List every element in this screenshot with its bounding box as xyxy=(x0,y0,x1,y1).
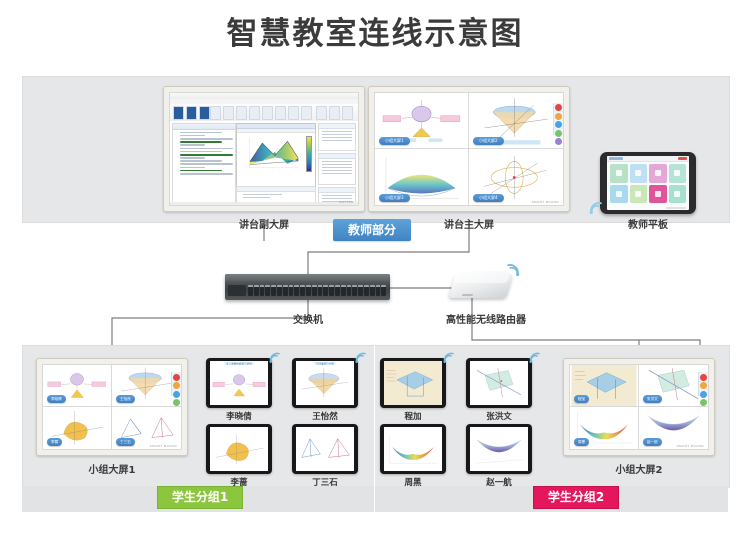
wifi-icon xyxy=(528,350,541,368)
blob-surface-diagram xyxy=(210,427,268,471)
plane-vector-diagram xyxy=(470,361,528,405)
group-screen-quadrant[interactable]: 周黑 xyxy=(570,407,639,449)
student-tablet[interactable] xyxy=(206,424,272,474)
lectern-secondary-screen-label: 讲台副大屏 xyxy=(194,216,334,231)
quadrant-student-name: 周黑 xyxy=(574,438,589,446)
wireless-router-label: 高性能无线路由器 xyxy=(423,311,549,326)
group-screen-quadrant[interactable]: 程加 xyxy=(570,365,639,407)
quadrant-tag: 小组大屏3 xyxy=(379,194,410,202)
plane-intersection-diagram xyxy=(384,361,442,405)
lectern-main-screen-label: 讲台主大屏 xyxy=(399,216,539,231)
switch-ports xyxy=(248,285,386,296)
main-screen-quadrant[interactable]: 空间曲面与方程 xyxy=(469,93,563,149)
matlab-figure-window[interactable] xyxy=(236,123,316,187)
matlab-command-window[interactable] xyxy=(236,186,316,203)
paraboloid-surface-plot xyxy=(470,427,528,471)
student-tablet[interactable]: 多元函数的极值与最值 xyxy=(206,358,272,408)
group-screen-quadrant[interactable]: 空间曲面与方程 王怡然 xyxy=(112,365,181,407)
screen-control-palette[interactable] xyxy=(171,372,181,396)
group-screen-quadrant[interactable]: 多元函数的极值与最值 李晓倩 xyxy=(43,365,112,407)
cone-surface-diagram xyxy=(296,361,354,405)
lectern-main-screen[interactable]: 多元函数极值与最值 xyxy=(368,86,570,212)
student-tablet[interactable]: 空间曲面与方程 xyxy=(292,358,358,408)
group-1-big-screen-label: 小组大屏1 xyxy=(52,461,172,476)
group-1-badge: 学生分组1 xyxy=(157,486,243,509)
student-name-label: 程加 xyxy=(380,410,446,422)
student-tablet[interactable] xyxy=(466,424,532,474)
student-tablet[interactable] xyxy=(380,424,446,474)
quadrant-tag: 小组大屏4 xyxy=(473,194,504,202)
quadrant-student-name: 李蔷 xyxy=(47,438,62,446)
group-2-badge: 学生分组2 xyxy=(533,486,619,509)
matlab-editor-pane[interactable] xyxy=(172,123,236,203)
quadrant-student-name: 张洪文 xyxy=(643,395,662,403)
wifi-icon xyxy=(442,350,455,368)
main-screen-quadrant[interactable]: 曲面积分应用 小组大屏4 xyxy=(469,149,563,205)
matlab-ribbon[interactable] xyxy=(170,104,358,122)
quadrant-student-name: 赵一航 xyxy=(643,438,662,446)
network-switch xyxy=(225,274,390,300)
quadrant-student-name: 丁三石 xyxy=(116,438,135,446)
quadrant-tag: 小组大屏1 xyxy=(379,137,410,145)
student-name-label: 丁三石 xyxy=(292,476,358,488)
wifi-icon xyxy=(505,262,521,276)
network-switch-label: 交换机 xyxy=(238,311,378,326)
group-2-big-screen-label: 小组大屏2 xyxy=(579,461,699,476)
student-name-label: 周黑 xyxy=(380,476,446,488)
quadrant-student-name: 程加 xyxy=(574,395,589,403)
student-name-label: 赵一航 xyxy=(466,476,532,488)
group-screen-quadrant[interactable]: 张洪文 xyxy=(639,365,708,407)
group-screen-quadrant[interactable]: 李蔷 xyxy=(43,407,112,449)
student-tablet[interactable] xyxy=(466,358,532,408)
group-2-big-screen[interactable]: 程加 张洪文 xyxy=(563,358,715,456)
screen-control-palette[interactable] xyxy=(553,103,563,135)
quadrant-tag: 小组大屏2 xyxy=(473,137,504,145)
main-screen-quadrant[interactable]: 多元函数极值与最值 xyxy=(375,93,469,149)
colorbar xyxy=(306,136,312,172)
page-title: 智慧教室连线示意图 xyxy=(0,8,750,53)
quadrant-student-name: 王怡然 xyxy=(116,395,135,403)
wifi-icon xyxy=(268,350,281,368)
group-1-big-screen[interactable]: 多元函数的极值与最值 李晓倩 空间曲面与方程 xyxy=(36,358,188,456)
student-tablet[interactable] xyxy=(380,358,446,408)
main-screen-quadrant[interactable]: 二重积分计算 xyxy=(375,149,469,205)
tablet-app-grid[interactable] xyxy=(610,164,686,203)
tablet-topbar xyxy=(607,156,689,162)
screen-control-palette[interactable] xyxy=(698,372,708,396)
geometry-sketch-diagram xyxy=(296,427,354,471)
surface-plot-3d xyxy=(247,134,301,178)
matlab-side-panels[interactable] xyxy=(318,123,356,203)
student-name-label: 张洪文 xyxy=(466,410,532,422)
student-name-label: 王怡然 xyxy=(292,410,358,422)
wifi-icon xyxy=(354,350,367,368)
quadrant-student-name: 李晓倩 xyxy=(47,395,66,403)
mindmap-diagram xyxy=(210,361,268,405)
group-divider xyxy=(374,345,375,512)
lectern-secondary-screen[interactable]: MATLAB xyxy=(163,86,365,212)
group-screen-quadrant[interactable]: 赵一航 xyxy=(639,407,708,449)
student-tablet[interactable] xyxy=(292,424,358,474)
wifi-icon xyxy=(588,200,604,214)
heatmap-surface-plot xyxy=(384,427,442,471)
teacher-tablet-label: 教师平板 xyxy=(608,216,688,231)
teacher-tablet[interactable] xyxy=(600,152,696,214)
student-name-label: 李晓倩 xyxy=(206,410,272,422)
group-screen-quadrant[interactable]: 丁三石 xyxy=(112,407,181,449)
student-badges-strip xyxy=(22,486,728,512)
teacher-section-badge: 教师部分 xyxy=(333,219,411,241)
